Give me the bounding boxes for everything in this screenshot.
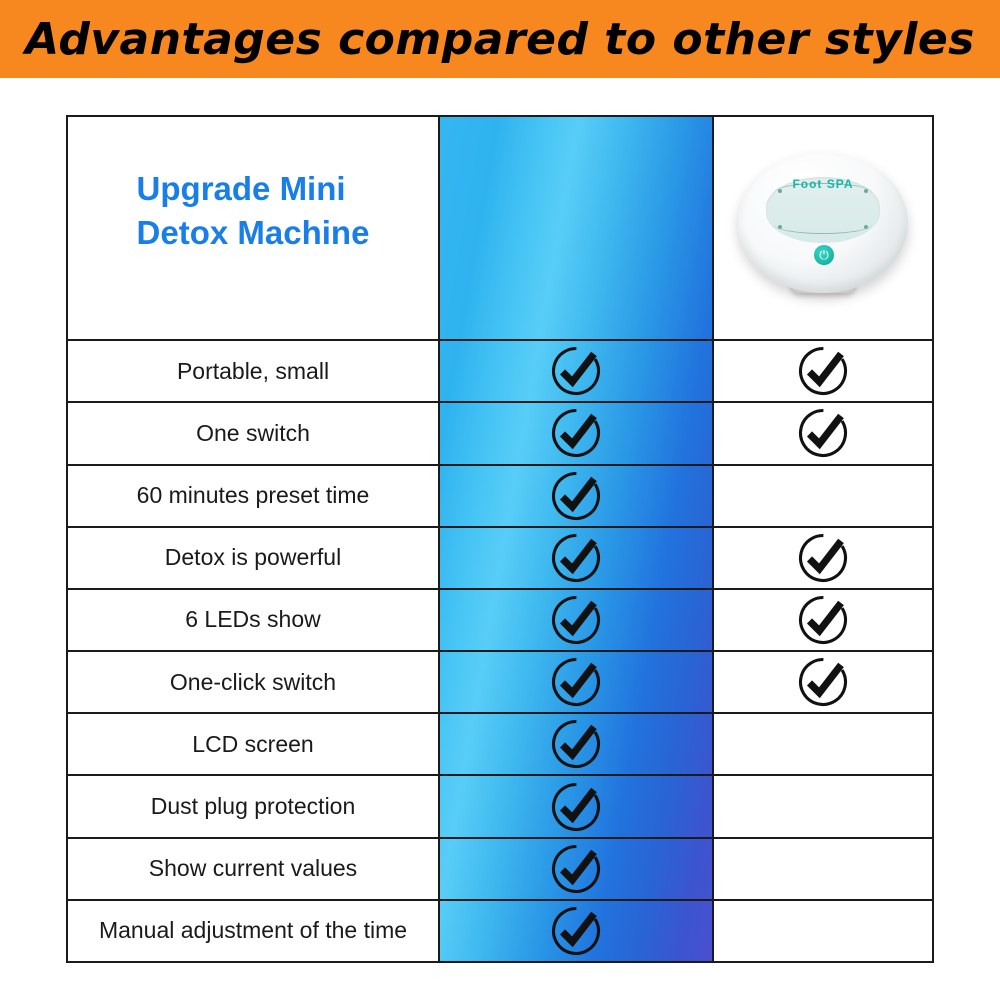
header-cell-product-title: Upgrade Mini Detox Machine bbox=[68, 117, 440, 339]
cell-upgrade-mini bbox=[440, 652, 712, 712]
check-icon bbox=[549, 655, 603, 709]
check-icon bbox=[549, 842, 603, 896]
cell-other-product bbox=[712, 341, 932, 401]
cell-other-product bbox=[712, 776, 932, 836]
cell-upgrade-mini bbox=[440, 776, 712, 836]
cell-other-product bbox=[712, 466, 932, 526]
cell-other-product bbox=[712, 403, 932, 463]
check-icon bbox=[796, 406, 850, 460]
cell-upgrade-mini bbox=[440, 403, 712, 463]
cell-upgrade-mini bbox=[440, 590, 712, 650]
check-icon bbox=[549, 344, 603, 398]
foot-spa-device-image: Foot SPA ⏻ bbox=[738, 153, 908, 308]
cell-upgrade-mini bbox=[440, 839, 712, 899]
table-header-row: Upgrade Mini Detox Machine bbox=[68, 117, 932, 339]
check-icon bbox=[549, 904, 603, 958]
check-icon bbox=[796, 531, 850, 585]
cell-upgrade-mini bbox=[440, 901, 712, 961]
table-body: Portable, small One switch bbox=[68, 339, 932, 961]
feature-label: 60 minutes preset time bbox=[68, 466, 440, 526]
check-icon bbox=[549, 780, 603, 834]
cell-upgrade-mini bbox=[440, 528, 712, 588]
feature-label: Manual adjustment of the time bbox=[68, 901, 440, 961]
product-title: Upgrade Mini Detox Machine bbox=[137, 167, 370, 255]
check-icon bbox=[549, 593, 603, 647]
device-brand-label: Foot SPA bbox=[738, 177, 908, 191]
check-icon bbox=[796, 593, 850, 647]
cell-upgrade-mini bbox=[440, 714, 712, 774]
header-cell-upgrade-column bbox=[440, 117, 712, 339]
table-row: LCD screen bbox=[68, 712, 932, 774]
table-row: Dust plug protection bbox=[68, 774, 932, 836]
comparison-table: Upgrade Mini Detox Machine bbox=[66, 115, 934, 963]
feature-label: Show current values bbox=[68, 839, 440, 899]
feature-label: LCD screen bbox=[68, 714, 440, 774]
header-cell-other-product: Foot SPA ⏻ bbox=[712, 117, 932, 339]
check-icon bbox=[549, 406, 603, 460]
cell-other-product bbox=[712, 590, 932, 650]
table-row: Detox is powerful bbox=[68, 526, 932, 588]
feature-label: Detox is powerful bbox=[68, 528, 440, 588]
feature-label: One-click switch bbox=[68, 652, 440, 712]
page-title: Advantages compared to other styles bbox=[25, 14, 975, 65]
cell-other-product bbox=[712, 714, 932, 774]
table-row: Manual adjustment of the time bbox=[68, 899, 932, 961]
comparison-infographic: Advantages compared to other styles Upgr… bbox=[0, 0, 1000, 1000]
feature-label: One switch bbox=[68, 403, 440, 463]
feature-label: Portable, small bbox=[68, 341, 440, 401]
table-row: Show current values bbox=[68, 837, 932, 899]
table-row: Portable, small bbox=[68, 339, 932, 401]
table-row: One switch bbox=[68, 401, 932, 463]
device-dot-icon bbox=[778, 225, 782, 229]
check-icon bbox=[796, 655, 850, 709]
table-row: 60 minutes preset time bbox=[68, 464, 932, 526]
check-icon bbox=[549, 717, 603, 771]
check-icon bbox=[549, 469, 603, 523]
table-row: 6 LEDs show bbox=[68, 588, 932, 650]
check-icon bbox=[796, 344, 850, 398]
table-row: One-click switch bbox=[68, 650, 932, 712]
cell-other-product bbox=[712, 839, 932, 899]
product-title-line1: Upgrade Mini bbox=[137, 167, 370, 211]
feature-label: 6 LEDs show bbox=[68, 590, 440, 650]
cell-other-product bbox=[712, 901, 932, 961]
header-banner: Advantages compared to other styles bbox=[0, 0, 1000, 78]
cell-other-product bbox=[712, 528, 932, 588]
cell-other-product bbox=[712, 652, 932, 712]
feature-label: Dust plug protection bbox=[68, 776, 440, 836]
cell-upgrade-mini bbox=[440, 466, 712, 526]
device-body: Foot SPA ⏻ bbox=[738, 153, 908, 293]
product-title-line2: Detox Machine bbox=[137, 211, 370, 255]
check-icon bbox=[549, 531, 603, 585]
cell-upgrade-mini bbox=[440, 341, 712, 401]
device-dot-icon bbox=[864, 225, 868, 229]
power-icon: ⏻ bbox=[814, 245, 834, 265]
device-arc-bottom-icon bbox=[774, 215, 872, 234]
